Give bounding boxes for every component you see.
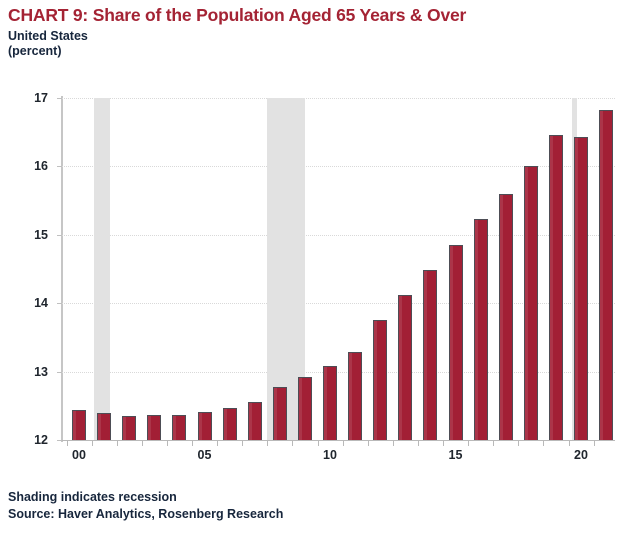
bar[interactable] <box>97 413 111 440</box>
bar[interactable] <box>398 295 412 440</box>
bar[interactable] <box>599 110 613 440</box>
y-axis-tick <box>57 372 62 373</box>
x-axis-tick <box>192 440 193 446</box>
x-axis-tick <box>569 440 570 446</box>
y-axis-tick <box>57 98 62 99</box>
bar[interactable] <box>147 415 161 440</box>
bar[interactable] <box>348 352 362 440</box>
gridline <box>62 98 615 99</box>
x-axis-tick <box>594 440 595 446</box>
bar[interactable] <box>474 219 488 440</box>
y-axis-label: 16 <box>14 160 48 172</box>
bar[interactable] <box>248 402 262 440</box>
x-axis-tick <box>242 440 243 446</box>
source-note: Source: Haver Analytics, Rosenberg Resea… <box>8 506 608 523</box>
x-axis-line <box>61 440 615 441</box>
bar[interactable] <box>198 412 212 440</box>
x-axis-label: 00 <box>64 448 94 462</box>
x-axis-tick <box>217 440 218 446</box>
plot-region: 1213141516170005101520 <box>62 98 615 440</box>
y-axis-label: 15 <box>14 229 48 241</box>
x-axis-tick <box>468 440 469 446</box>
y-axis-tick <box>57 440 62 441</box>
bar[interactable] <box>574 137 588 440</box>
x-axis-tick <box>518 440 519 446</box>
x-axis-tick <box>117 440 118 446</box>
x-axis-tick <box>167 440 168 446</box>
y-axis-label: 12 <box>14 434 48 446</box>
y-axis-label: 17 <box>14 92 48 104</box>
x-axis-tick <box>543 440 544 446</box>
bar[interactable] <box>373 320 387 440</box>
bar[interactable] <box>449 245 463 440</box>
x-axis-tick <box>67 440 68 446</box>
bar[interactable] <box>524 166 538 440</box>
bar[interactable] <box>499 194 513 440</box>
recession-note: Shading indicates recession <box>8 489 608 506</box>
bar[interactable] <box>122 416 136 440</box>
y-axis-tick <box>57 303 62 304</box>
x-axis-label: 15 <box>441 448 471 462</box>
x-axis-tick <box>418 440 419 446</box>
bar[interactable] <box>273 387 287 440</box>
x-axis-tick <box>493 440 494 446</box>
bar[interactable] <box>223 408 237 440</box>
recession-band <box>94 98 110 440</box>
x-axis-label: 10 <box>315 448 345 462</box>
x-axis-label: 05 <box>190 448 220 462</box>
x-axis-tick <box>267 440 268 446</box>
x-axis-tick <box>343 440 344 446</box>
bar[interactable] <box>423 270 437 440</box>
x-axis-tick <box>393 440 394 446</box>
bar[interactable] <box>298 377 312 440</box>
x-axis-tick <box>368 440 369 446</box>
y-axis-tick <box>57 235 62 236</box>
bar[interactable] <box>172 415 186 440</box>
x-axis-tick <box>318 440 319 446</box>
x-axis-tick <box>142 440 143 446</box>
x-axis-label: 20 <box>566 448 596 462</box>
bar[interactable] <box>323 366 337 440</box>
bar[interactable] <box>549 135 563 440</box>
y-axis-label: 13 <box>14 366 48 378</box>
chart-footer: Shading indicates recession Source: Have… <box>8 489 608 523</box>
x-axis-tick <box>92 440 93 446</box>
x-axis-tick <box>443 440 444 446</box>
chart-area: 1213141516170005101520 <box>0 0 630 542</box>
y-axis-label: 14 <box>14 297 48 309</box>
y-axis-tick <box>57 166 62 167</box>
bar[interactable] <box>72 410 86 440</box>
x-axis-tick <box>292 440 293 446</box>
